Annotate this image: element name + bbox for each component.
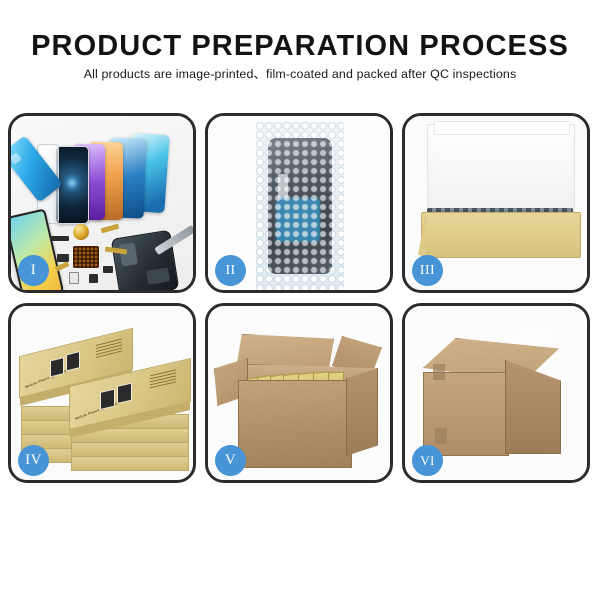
- step-badge-3: III: [412, 255, 443, 286]
- box-layer-right-2: [71, 442, 189, 457]
- seal-tape-upper: [433, 364, 445, 380]
- page-subtitle: All products are image-printed、film-coat…: [0, 64, 600, 82]
- bubble-wrap-overlay: [256, 122, 344, 290]
- spare-part-chip-1: [51, 236, 69, 241]
- carton-front-face: [238, 380, 352, 468]
- step-badge-5: V: [215, 445, 246, 476]
- seal-tape-lower: [435, 428, 447, 444]
- process-step-5[interactable]: V: [205, 303, 393, 483]
- bubble-wrap-bag: [256, 122, 344, 290]
- process-row-bottom: Mobile Phone Spare Parts Mobile Phone Sp…: [8, 303, 592, 483]
- step-badge-4: IV: [18, 445, 49, 476]
- step-badge-2: II: [215, 255, 246, 286]
- process-step-4[interactable]: Mobile Phone Spare Parts Mobile Phone Sp…: [8, 303, 196, 483]
- carton-side-face: [346, 368, 378, 456]
- spare-part-chip-4: [89, 274, 98, 283]
- process-step-6[interactable]: VI: [402, 303, 590, 483]
- process-row-top: I II III: [8, 113, 592, 293]
- connector-grid-chip: [73, 246, 99, 268]
- wireless-charging-coil: [73, 224, 89, 240]
- process-step-2[interactable]: II: [205, 113, 393, 293]
- process-step-3[interactable]: III: [402, 113, 590, 293]
- box-window-rear-2: [66, 351, 80, 371]
- box-window-front-1: [100, 388, 115, 409]
- page-title: PRODUCT PREPARATION PROCESS: [0, 30, 600, 63]
- step-badge-6: VI: [412, 445, 443, 476]
- box-window-rear-1: [50, 357, 64, 377]
- box-window-front-2: [117, 383, 132, 404]
- kraft-box-base: [421, 212, 581, 258]
- carton-side-face: [505, 360, 561, 454]
- box-layer-right-1: [71, 456, 189, 471]
- flex-cable-1: [101, 224, 120, 234]
- process-step-1[interactable]: I: [8, 113, 196, 293]
- spare-part-chip-5: [69, 272, 79, 284]
- process-step-grid: I II III: [8, 113, 592, 493]
- step-badge-1: I: [18, 255, 49, 286]
- spare-part-chip-3: [103, 266, 113, 273]
- product-preparation-infographic: PRODUCT PREPARATION PROCESS All products…: [0, 0, 600, 600]
